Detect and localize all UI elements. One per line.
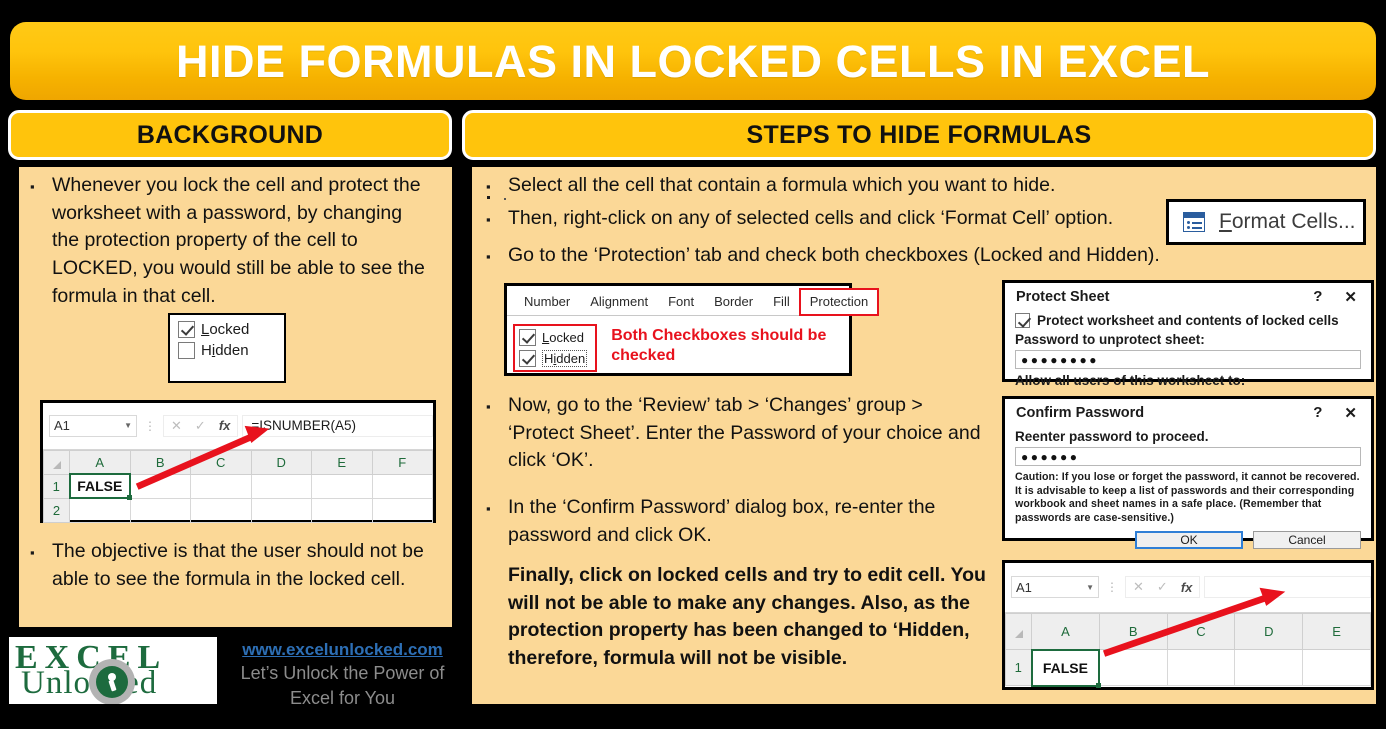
section-header-left-label: BACKGROUND bbox=[137, 121, 323, 150]
row-header-1[interactable]: 1 bbox=[1006, 650, 1032, 686]
left-bullet-1-text: Whenever you lock the cell and protect t… bbox=[52, 172, 434, 310]
allow-users-label: Allow all users of this worksheet to: bbox=[1015, 373, 1361, 388]
confirm-password-dialog: Confirm Password ? ✕ Reenter password to… bbox=[1002, 396, 1374, 541]
cell-d1[interactable] bbox=[251, 474, 312, 498]
format-cells-button[interactable]: Format Cells... bbox=[1166, 199, 1366, 245]
help-icon[interactable]: ? bbox=[1313, 288, 1322, 305]
excel-formula-bar-row: A1 ▼ ⋮ ✕ ✓ fx =ISNUMBER(A5) bbox=[43, 403, 433, 450]
right-bullet-3-text: Go to the ‘Protection’ tab and check bot… bbox=[508, 242, 1160, 270]
table-row: 1 FALSE bbox=[44, 474, 433, 498]
final-note-text: Finally, click on locked cells and try t… bbox=[508, 562, 988, 673]
right-bullet-4-text: Now, go to the ‘Review’ tab > ‘Changes’ … bbox=[508, 392, 986, 475]
infographic-page: HIDE FORMULAS IN LOCKED CELLS IN EXCEL B… bbox=[0, 0, 1386, 729]
help-icon[interactable]: ? bbox=[1313, 404, 1322, 421]
column-header-e[interactable]: E bbox=[312, 450, 373, 474]
column-header-a[interactable]: A bbox=[1032, 613, 1100, 649]
format-cells-tabs: Number Alignment Font Border Fill Protec… bbox=[507, 286, 849, 316]
locked-checkbox-icon[interactable] bbox=[519, 329, 536, 346]
main-title-banner: HIDE FORMULAS IN LOCKED CELLS IN EXCEL bbox=[10, 22, 1376, 100]
right-bullet-3: ▪ Go to the ‘Protection’ tab and check b… bbox=[486, 242, 1276, 270]
format-cells-icon bbox=[1183, 212, 1205, 232]
fc-locked-row[interactable]: Locked bbox=[519, 329, 587, 346]
format-cells-protection-body: Locked Hidden Both Checkboxes should be … bbox=[507, 316, 849, 372]
cancel-formula-icon[interactable]: ✕ bbox=[1133, 579, 1144, 595]
password-label: Password to unprotect sheet: bbox=[1015, 332, 1361, 347]
row-header-2[interactable]: 2 bbox=[44, 498, 70, 522]
section-header-steps: STEPS TO HIDE FORMULAS bbox=[462, 110, 1376, 160]
section-header-right-label: STEPS TO HIDE FORMULAS bbox=[746, 121, 1091, 150]
table-row: 2 bbox=[44, 498, 433, 522]
protection-checkbox-group: Locked Hidden bbox=[513, 324, 597, 372]
protect-worksheet-checkbox-row[interactable]: Protect worksheet and contents of locked… bbox=[1015, 313, 1361, 328]
corner-triangle-icon bbox=[53, 461, 61, 469]
more-options-icon[interactable]: ⋮ bbox=[1106, 580, 1118, 594]
hidden-checkbox-row[interactable]: Hidden bbox=[178, 342, 284, 359]
excel-formula-bar-row: A1 ▼ ⋮ ✕ ✓ fx bbox=[1005, 563, 1371, 613]
tagline-line-1: Let’s Unlock the Power of bbox=[225, 662, 460, 685]
column-header-row: A B C D E F bbox=[44, 450, 433, 474]
cell-c1[interactable] bbox=[1167, 650, 1235, 686]
cell-a2[interactable] bbox=[70, 498, 131, 522]
tab-number[interactable]: Number bbox=[514, 289, 580, 315]
cancel-formula-icon[interactable]: ✕ bbox=[171, 418, 182, 434]
table-row: 1 FALSE bbox=[1006, 650, 1371, 686]
name-box-value: A1 bbox=[54, 418, 70, 433]
keyhole-icon bbox=[108, 673, 116, 681]
hidden-checkbox-icon[interactable] bbox=[519, 350, 536, 367]
tagline-line-2: Excel for You bbox=[225, 687, 460, 710]
cell-d1[interactable] bbox=[1235, 650, 1303, 686]
bullet-square-icon: ▪ bbox=[486, 242, 508, 266]
chevron-down-icon[interactable]: ▼ bbox=[1086, 583, 1094, 592]
excel-unlocked-logo: EXCEL Unlocked bbox=[9, 637, 217, 704]
confirm-password-title: Confirm Password bbox=[1016, 405, 1144, 421]
close-icon[interactable]: ✕ bbox=[1344, 404, 1357, 422]
tab-protection[interactable]: Protection bbox=[800, 289, 879, 315]
format-cells-dialog-screenshot: Number Alignment Font Border Fill Protec… bbox=[504, 283, 852, 376]
confirm-password-titlebar: Confirm Password ? ✕ bbox=[1005, 399, 1371, 426]
excel-grid: A B C D E F 1 FALSE 2 bbox=[43, 450, 433, 520]
cell-a1[interactable]: FALSE bbox=[70, 474, 131, 498]
close-icon[interactable]: ✕ bbox=[1344, 288, 1357, 306]
tab-border[interactable]: Border bbox=[704, 289, 763, 315]
cell-f1[interactable] bbox=[372, 474, 433, 498]
column-header-c[interactable]: C bbox=[191, 450, 252, 474]
insert-function-icon[interactable]: fx bbox=[219, 418, 231, 433]
row-header-1[interactable]: 1 bbox=[44, 474, 70, 498]
formula-bar-input[interactable]: =ISNUMBER(A5) bbox=[242, 415, 433, 437]
column-header-d[interactable]: D bbox=[1235, 613, 1303, 649]
site-url-link[interactable]: www.excelunlocked.com bbox=[225, 640, 460, 660]
column-header-b[interactable]: B bbox=[130, 450, 191, 474]
section-header-background: BACKGROUND bbox=[8, 110, 452, 160]
formula-confirm-group: ✕ ✓ fx bbox=[163, 415, 238, 437]
formula-bar-input[interactable] bbox=[1204, 576, 1371, 598]
column-header-f[interactable]: F bbox=[372, 450, 433, 474]
tab-font[interactable]: Font bbox=[658, 289, 704, 315]
insert-function-icon[interactable]: fx bbox=[1181, 580, 1193, 595]
reenter-password-label: Reenter password to proceed. bbox=[1015, 429, 1361, 444]
confirm-password-body: Reenter password to proceed. ●●●●●● Caut… bbox=[1005, 426, 1371, 549]
ok-button[interactable]: OK bbox=[1135, 531, 1243, 549]
protect-sheet-body: Protect worksheet and contents of locked… bbox=[1005, 310, 1371, 388]
column-header-a[interactable]: A bbox=[70, 450, 131, 474]
column-header-d[interactable]: D bbox=[251, 450, 312, 474]
corner-triangle-icon bbox=[1015, 630, 1023, 638]
enter-formula-icon[interactable]: ✓ bbox=[1157, 579, 1168, 595]
bullet-square-icon: ▪ bbox=[30, 172, 52, 196]
more-options-icon[interactable]: ⋮ bbox=[144, 419, 156, 433]
column-header-b[interactable]: B bbox=[1099, 613, 1167, 649]
column-header-e[interactable]: E bbox=[1303, 613, 1371, 649]
tab-alignment[interactable]: Alignment bbox=[580, 289, 658, 315]
bullet-square-icon: ▪ bbox=[486, 205, 508, 229]
right-bullet-4: ▪ Now, go to the ‘Review’ tab > ‘Changes… bbox=[486, 392, 986, 475]
enter-formula-icon[interactable]: ✓ bbox=[195, 418, 206, 434]
cell-e2[interactable] bbox=[312, 498, 373, 522]
excel-grid: A B C D E 1 FALSE bbox=[1005, 613, 1371, 687]
cell-b1[interactable] bbox=[1099, 650, 1167, 686]
protection-properties-popup: Locked Hidden bbox=[168, 313, 286, 383]
left-bullet-2-text: The objective is that the user should no… bbox=[52, 538, 434, 593]
excel-screenshot-formula-hidden: A1 ▼ ⋮ ✕ ✓ fx A B C D E bbox=[1002, 560, 1374, 690]
column-header-c[interactable]: C bbox=[1167, 613, 1235, 649]
cancel-button[interactable]: Cancel bbox=[1253, 531, 1361, 549]
cell-a1[interactable]: FALSE bbox=[1032, 650, 1100, 686]
cell-e1[interactable] bbox=[1303, 650, 1371, 686]
right-bullet-2-text: Then, right-click on any of selected cel… bbox=[508, 205, 1113, 233]
locked-checkbox-icon[interactable] bbox=[178, 321, 195, 338]
protect-sheet-title: Protect Sheet bbox=[1016, 289, 1109, 305]
chevron-down-icon[interactable]: ▼ bbox=[124, 421, 132, 430]
name-box[interactable]: A1 ▼ bbox=[49, 415, 137, 437]
protect-sheet-titlebar: Protect Sheet ? ✕ bbox=[1005, 283, 1371, 310]
fc-hidden-row[interactable]: Hidden bbox=[519, 350, 587, 367]
locked-checkbox-label: Locked bbox=[542, 330, 584, 345]
right-bullet-5: ▪ In the ‘Confirm Password’ dialog box, … bbox=[486, 494, 986, 549]
left-bullet-2: ▪ The objective is that the user should … bbox=[30, 538, 434, 593]
left-bullet-1: ▪ Whenever you lock the cell and protect… bbox=[30, 172, 434, 310]
cell-d2[interactable] bbox=[251, 498, 312, 522]
name-box-value: A1 bbox=[1016, 580, 1032, 595]
right-bullet-2: ▪ Then, right-click on any of selected c… bbox=[486, 205, 1176, 233]
bullet-square-icon: ▪ bbox=[30, 538, 52, 562]
hidden-checkbox-icon[interactable] bbox=[178, 342, 195, 359]
reenter-password-input[interactable]: ●●●●●● bbox=[1015, 447, 1361, 466]
right-bullet-1-text: Select all the cell that contain a formu… bbox=[508, 172, 1055, 200]
cell-c2[interactable] bbox=[191, 498, 252, 522]
cell-c1[interactable] bbox=[191, 474, 252, 498]
bullet-square-icon: ▪ bbox=[486, 172, 508, 196]
name-box[interactable]: A1 ▼ bbox=[1011, 576, 1099, 598]
format-cells-annotation: Both Checkboxes should be checked bbox=[611, 324, 849, 372]
stray-artifact-dot bbox=[487, 196, 490, 199]
stray-artifact-dot-2 bbox=[504, 198, 506, 200]
hidden-checkbox-label: Hidden bbox=[201, 342, 249, 359]
excel-screenshot-with-formula: A1 ▼ ⋮ ✕ ✓ fx =ISNUMBER(A5) A B C D E bbox=[40, 400, 436, 523]
protect-sheet-dialog: Protect Sheet ? ✕ Protect worksheet and … bbox=[1002, 280, 1374, 382]
cell-b2[interactable] bbox=[130, 498, 191, 522]
locked-checkbox-label: Locked bbox=[201, 321, 249, 338]
select-all-corner[interactable] bbox=[1006, 613, 1032, 649]
cell-f2[interactable] bbox=[372, 498, 433, 522]
page-title: HIDE FORMULAS IN LOCKED CELLS IN EXCEL bbox=[176, 39, 1210, 84]
cell-e1[interactable] bbox=[312, 474, 373, 498]
cell-b1[interactable] bbox=[130, 474, 191, 498]
select-all-corner[interactable] bbox=[44, 450, 70, 474]
password-input[interactable]: ●●●●●●●● bbox=[1015, 350, 1361, 369]
right-bullet-5-text: In the ‘Confirm Password’ dialog box, re… bbox=[508, 494, 986, 549]
tab-fill[interactable]: Fill bbox=[763, 289, 800, 315]
column-header-row: A B C D E bbox=[1006, 613, 1371, 649]
caution-text: Caution: If you lose or forget the passw… bbox=[1015, 471, 1361, 525]
locked-checkbox-row[interactable]: Locked bbox=[178, 321, 284, 338]
right-bullet-1: ▪ Select all the cell that contain a for… bbox=[486, 172, 1176, 200]
format-cells-label: Format Cells... bbox=[1219, 210, 1356, 234]
protect-worksheet-checkbox-icon[interactable] bbox=[1015, 313, 1030, 328]
formula-confirm-group: ✕ ✓ fx bbox=[1125, 576, 1200, 598]
bullet-square-icon: ▪ bbox=[486, 494, 508, 518]
protect-worksheet-label: Protect worksheet and contents of locked… bbox=[1037, 313, 1339, 328]
hidden-checkbox-label: Hidden bbox=[542, 350, 587, 367]
site-info: www.excelunlocked.com Let’s Unlock the P… bbox=[225, 640, 460, 709]
bullet-square-icon: ▪ bbox=[486, 392, 508, 416]
confirm-password-buttons: OK Cancel bbox=[1015, 531, 1361, 549]
